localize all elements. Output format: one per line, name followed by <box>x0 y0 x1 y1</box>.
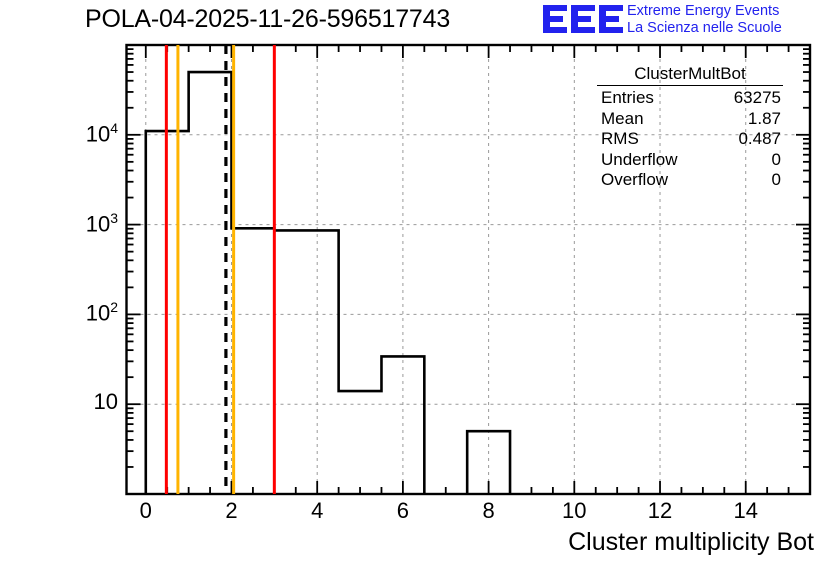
stats-row-rms: RMS 0.487 <box>597 129 783 150</box>
stats-row-mean: Mean 1.87 <box>597 109 783 130</box>
x-tick-6: 6 <box>363 498 443 524</box>
stats-value-mean: 1.87 <box>748 109 781 130</box>
stats-label-overflow: Overflow <box>601 170 668 191</box>
eee-logo-line1: Extreme Energy Events <box>627 3 779 20</box>
y-tick-10e4: 104 <box>40 120 118 147</box>
stats-box-title: ClusterMultBot <box>597 64 783 86</box>
eee-logo-line2: La Scienza nelle Scuole <box>627 20 782 37</box>
x-tick-4: 4 <box>277 498 357 524</box>
stats-row-underflow: Underflow 0 <box>597 150 783 171</box>
stats-value-rms: 0.487 <box>738 129 781 150</box>
y-tick-10: 10 <box>40 389 118 415</box>
histogram-outline <box>146 72 510 494</box>
x-tick-10: 10 <box>534 498 614 524</box>
page-title: POLA-04-2025-11-26-596517743 <box>85 5 450 34</box>
x-axis-title: Cluster multiplicity Bot <box>568 528 814 557</box>
stats-label-entries: Entries <box>601 88 654 109</box>
eee-logo-letters-icon <box>543 2 625 36</box>
stats-value-overflow: 0 <box>772 170 781 191</box>
stats-label-rms: RMS <box>601 129 639 150</box>
stats-row-entries: Entries 63275 <box>597 88 783 109</box>
stats-row-overflow: Overflow 0 <box>597 170 783 191</box>
x-tick-2: 2 <box>191 498 271 524</box>
stats-label-underflow: Underflow <box>601 150 678 171</box>
stats-value-underflow: 0 <box>772 150 781 171</box>
x-tick-12: 12 <box>620 498 700 524</box>
eee-logo: Extreme Energy Events La Scienza nelle S… <box>543 2 833 40</box>
x-tick-0: 0 <box>106 498 186 524</box>
x-tick-8: 8 <box>449 498 529 524</box>
x-tick-14: 14 <box>706 498 786 524</box>
y-tick-10e2: 102 <box>40 299 118 326</box>
stats-label-mean: Mean <box>601 109 644 130</box>
y-tick-10e3: 103 <box>40 210 118 237</box>
stats-box: ClusterMultBot Entries 63275 Mean 1.87 R… <box>597 64 783 191</box>
stats-value-entries: 63275 <box>734 88 781 109</box>
